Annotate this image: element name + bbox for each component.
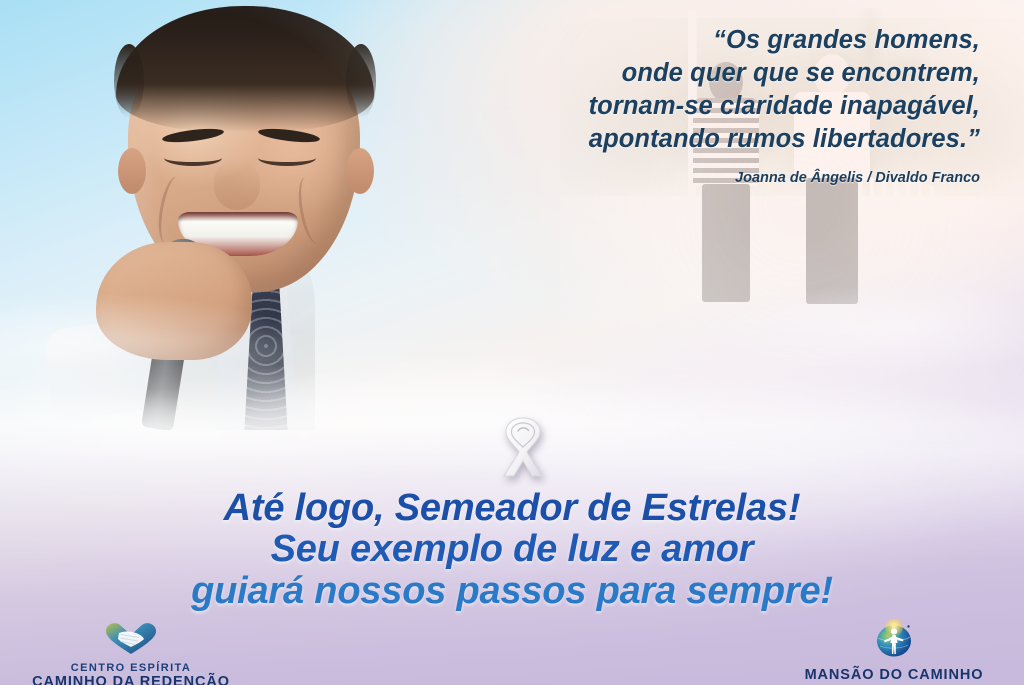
white-mourning-ribbon-icon	[492, 412, 554, 484]
logo-left-line-1: CENTRO ESPÍRITA	[6, 662, 256, 674]
headline-block: Até logo, Semeador de Estrelas! Seu exem…	[0, 488, 1024, 613]
quote-line-2: onde quer que se encontrem,	[420, 57, 980, 90]
globe-figure-icon	[774, 618, 1014, 665]
quote-line-4: apontando rumos libertadores.”	[420, 123, 980, 156]
logo-centro-espirita-caminho-da-redencao[interactable]: CENTRO ESPÍRITA CAMINHO DA REDENÇÃO	[6, 620, 256, 685]
poster-canvas: “Os grandes homens, onde quer que se enc…	[0, 0, 1024, 685]
quote-author: Joanna de Ângelis / Divaldo Franco	[420, 169, 980, 188]
headline-line-2: Seu exemplo de luz e amor	[0, 529, 1024, 571]
quote-line-1: “Os grandes homens,	[420, 24, 980, 57]
logo-right-line-1: MANSÃO DO CAMINHO	[774, 667, 1014, 683]
headline-line-1: Até logo, Semeador de Estrelas!	[0, 488, 1024, 529]
quote-line-3: tornam-se claridade inapagável,	[420, 90, 980, 123]
logo-mansao-do-caminho[interactable]: MANSÃO DO CAMINHO	[774, 618, 1014, 683]
logo-left-line-2: CAMINHO DA REDENÇÃO	[6, 674, 256, 685]
heart-hands-icon	[6, 620, 256, 661]
quote-block: “Os grandes homens, onde quer que se enc…	[420, 24, 980, 187]
headline-line-3: guiará nossos passos para sempre!	[0, 571, 1024, 613]
